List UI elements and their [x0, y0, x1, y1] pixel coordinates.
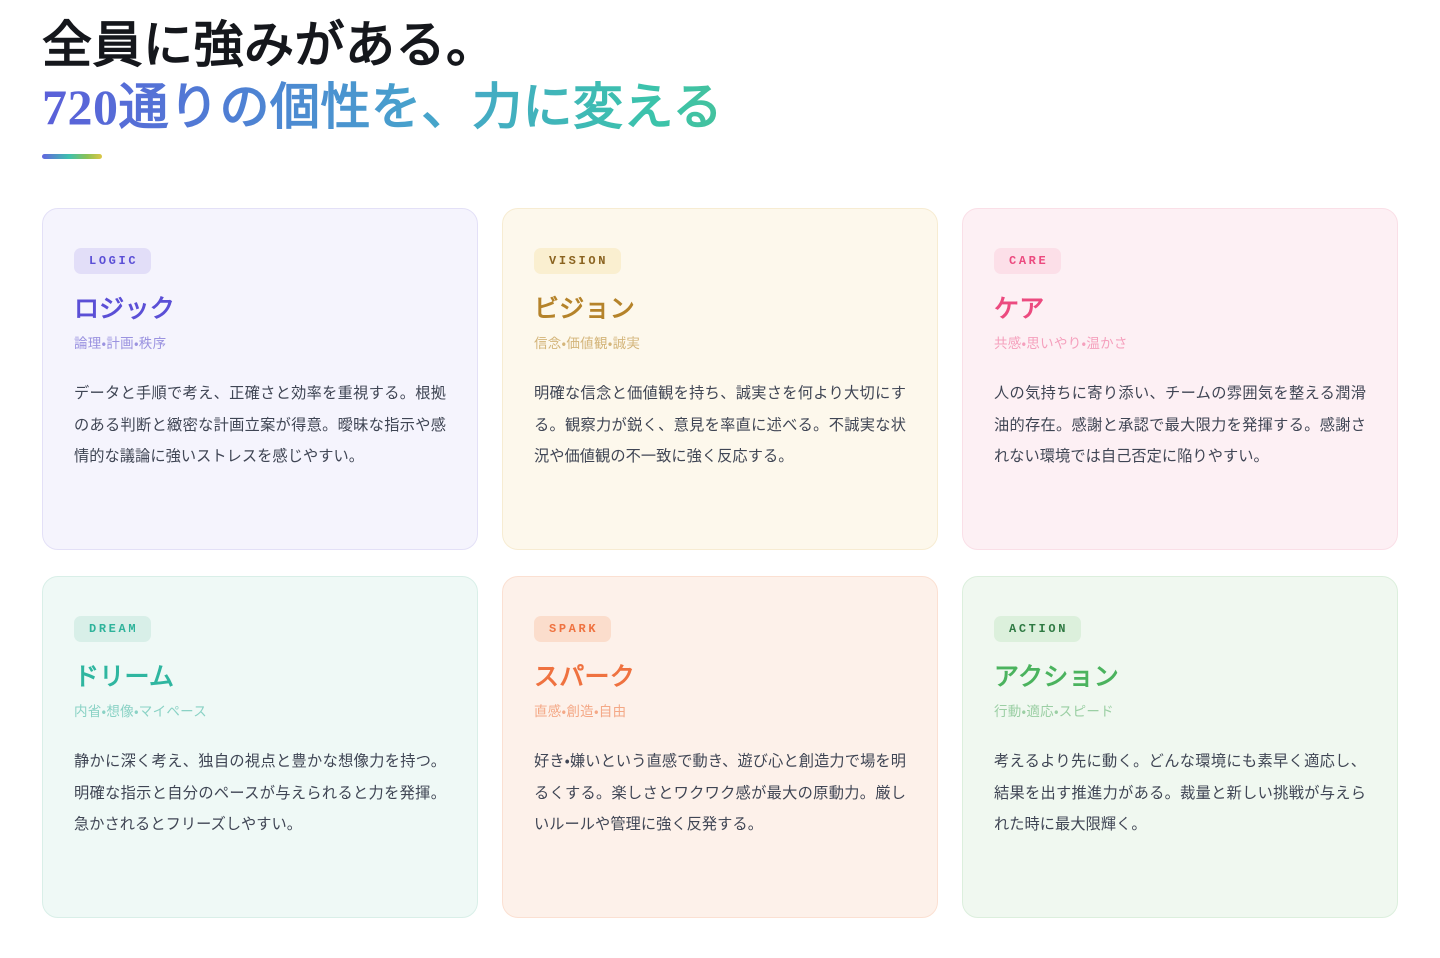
trait-badge: VISION — [534, 248, 621, 274]
trait-keywords: 共感・思いやり・温かさ — [994, 335, 1366, 354]
trait-card-vision[interactable]: VISION ビジョン 信念・価値観・誠実 明確な信念と価値観を持ち、誠実さを何… — [502, 208, 938, 550]
trait-description: 明確な信念と価値観を持ち、誠実さを何より大切にする。観察力が鋭く、意見を率直に述… — [534, 378, 906, 473]
trait-keywords: 信念・価値観・誠実 — [534, 335, 906, 354]
trait-card-grid: LOGIC ロジック 論理・計画・秩序 データと手順で考え、正確さと効率を重視す… — [42, 208, 1398, 918]
trait-keywords: 内省・想像・マイペース — [74, 703, 446, 722]
trait-badge: DREAM — [74, 616, 151, 642]
trait-keywords: 論理・計画・秩序 — [74, 335, 446, 354]
accent-bar-divider — [42, 154, 102, 159]
page-root: 全員に強みがある。 720通りの個性を、力に変える LOGIC ロジック 論理・… — [0, 0, 1440, 958]
trait-title: アクション — [994, 662, 1366, 692]
trait-title: ケア — [994, 294, 1366, 324]
hero-headline-primary: 全員に強みがある。 — [42, 14, 1398, 76]
trait-description: データと手順で考え、正確さと効率を重視する。根拠のある判断と緻密な計画立案が得意… — [74, 378, 446, 473]
trait-card-spark[interactable]: SPARK スパーク 直感・創造・自由 好き・嫌いという直感で動き、遊び心と創造… — [502, 576, 938, 918]
trait-description: 静かに深く考え、独自の視点と豊かな想像力を持つ。明確な指示と自分のペースが与えら… — [74, 746, 446, 841]
trait-badge: ACTION — [994, 616, 1081, 642]
trait-description: 考えるより先に動く。どんな環境にも素早く適応し、結果を出す推進力がある。裁量と新… — [994, 746, 1366, 841]
hero-headline-gradient: 720通りの個性を、力に変える — [42, 76, 1398, 138]
trait-card-dream[interactable]: DREAM ドリーム 内省・想像・マイペース 静かに深く考え、独自の視点と豊かな… — [42, 576, 478, 918]
trait-badge: LOGIC — [74, 248, 151, 274]
trait-badge: SPARK — [534, 616, 611, 642]
trait-title: ロジック — [74, 294, 446, 324]
trait-badge: CARE — [994, 248, 1061, 274]
trait-card-action[interactable]: ACTION アクション 行動・適応・スピード 考えるより先に動く。どんな環境に… — [962, 576, 1398, 918]
hero-heading: 全員に強みがある。 720通りの個性を、力に変える — [42, 0, 1398, 159]
trait-description: 好き・嫌いという直感で動き、遊び心と創造力で場を明るくする。楽しさとワクワク感が… — [534, 746, 906, 841]
trait-keywords: 行動・適応・スピード — [994, 703, 1366, 722]
trait-card-care[interactable]: CARE ケア 共感・思いやり・温かさ 人の気持ちに寄り添い、チームの雰囲気を整… — [962, 208, 1398, 550]
trait-title: ドリーム — [74, 662, 446, 692]
trait-title: スパーク — [534, 662, 906, 692]
trait-description: 人の気持ちに寄り添い、チームの雰囲気を整える潤滑油的存在。感謝と承認で最大限力を… — [994, 378, 1366, 473]
trait-card-logic[interactable]: LOGIC ロジック 論理・計画・秩序 データと手順で考え、正確さと効率を重視す… — [42, 208, 478, 550]
trait-keywords: 直感・創造・自由 — [534, 703, 906, 722]
trait-title: ビジョン — [534, 294, 906, 324]
